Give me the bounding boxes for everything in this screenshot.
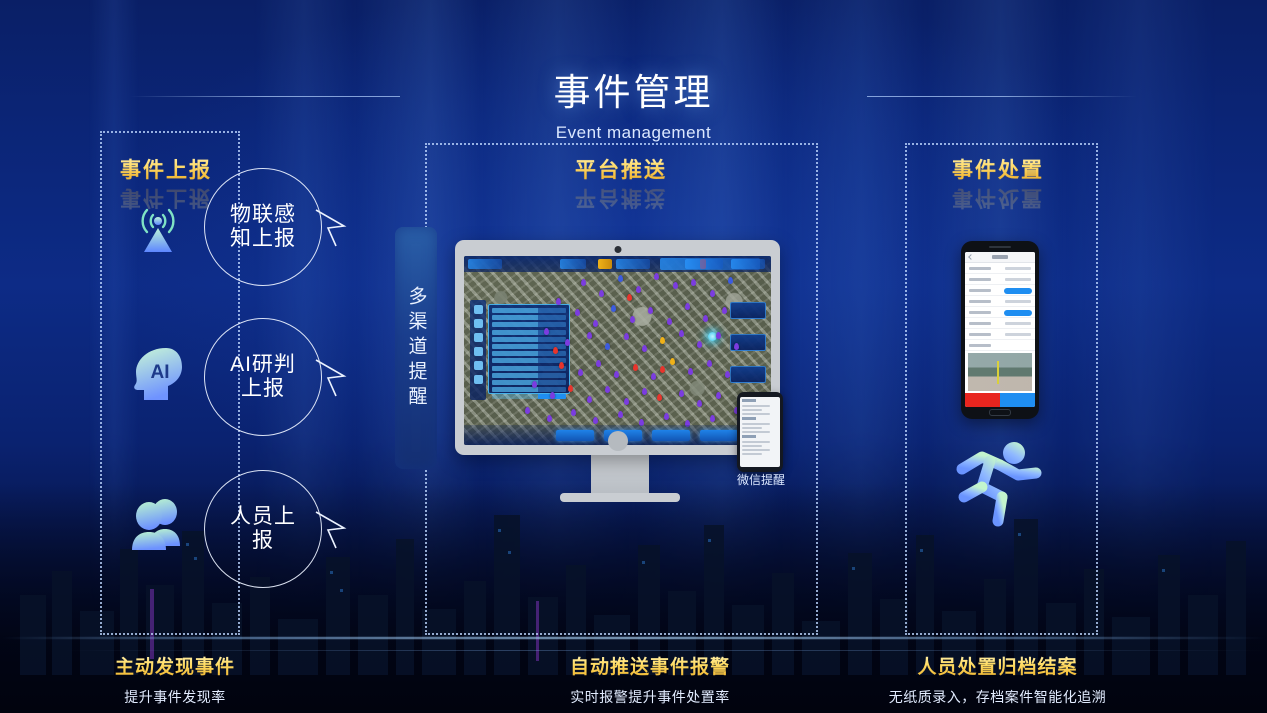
- bubble-label-people: 人员上报: [226, 505, 300, 554]
- map-side-button-3[interactable]: [730, 366, 766, 383]
- detail-row: [965, 329, 1035, 340]
- footer-subtext: 无纸质录入，存档案件智能化追溯: [845, 687, 1150, 707]
- bubble-tail-ai: [314, 354, 364, 400]
- phone-nav-bar: [965, 252, 1035, 263]
- ai-head-icon: AI: [122, 338, 194, 410]
- map-left-icon-rail[interactable]: [470, 300, 486, 400]
- bubble-tail-people: [314, 506, 364, 552]
- antenna-signal-icon: [122, 188, 194, 260]
- monitor-stand-foot: [560, 493, 680, 502]
- wechat-phone-mockup[interactable]: [737, 392, 783, 472]
- detail-row: [965, 285, 1035, 296]
- footer-block-archive: 人员处置归档结案 无纸质录入，存档案件智能化追溯: [845, 652, 1150, 707]
- bubble-people[interactable]: 人员上报: [204, 470, 322, 588]
- footer-block-discover: 主动发现事件 提升事件发现率: [60, 652, 290, 707]
- bubble-label-ai: AI研判上报: [226, 353, 300, 402]
- footer-heading: 人员处置归档结案: [845, 652, 1150, 679]
- footer-heading: 自动推送事件报警: [505, 652, 795, 679]
- back-chevron-icon[interactable]: [968, 254, 974, 260]
- desktop-monitor-mockup: [455, 240, 785, 502]
- footer-heading: 主动发现事件: [60, 652, 290, 679]
- page-title: 事件管理: [0, 62, 1267, 116]
- event-photo-thumbnail: [968, 353, 1032, 391]
- footer-subtext: 提升事件发现率: [60, 687, 290, 707]
- multi-channel-alert-label: 多渠道提醒: [403, 286, 430, 411]
- monitor-home-indicator: [608, 431, 628, 451]
- detail-row: [965, 274, 1035, 285]
- horizon-glow-line: [0, 637, 1267, 639]
- svg-text:AI: AI: [151, 362, 170, 383]
- monitor-bezel: [455, 240, 780, 455]
- footer-subtext: 实时报警提升事件处置率: [505, 687, 795, 707]
- bubble-ai[interactable]: AI研判上报: [204, 318, 322, 436]
- horizon-glow-line-secondary: [0, 650, 1267, 651]
- people-group-icon: [122, 490, 194, 562]
- source-row-iot: 物联感知上报: [108, 160, 368, 310]
- webcam-dot-icon: [614, 246, 621, 253]
- phone-action-buttons[interactable]: [965, 393, 1035, 407]
- detail-row: [965, 263, 1035, 274]
- disposal-phone-mockup[interactable]: [961, 241, 1039, 419]
- confirm-button[interactable]: [1000, 393, 1035, 407]
- phone-earpiece-icon: [989, 246, 1011, 248]
- phone-home-button-icon[interactable]: [989, 409, 1011, 416]
- monitor-screen[interactable]: [464, 256, 771, 445]
- column-title-push: 平台推送: [575, 154, 667, 184]
- bubble-tail-iot: [314, 204, 364, 250]
- phone-nav-title: [992, 255, 1008, 259]
- map-side-button-1[interactable]: [730, 302, 766, 319]
- multi-channel-alert-tab[interactable]: 多渠道提醒: [395, 227, 437, 469]
- column-title-disposal: 事件处置: [952, 154, 1044, 184]
- monitor-stand-neck: [591, 455, 649, 493]
- wechat-caption: 微信提醒: [737, 472, 785, 488]
- reject-button[interactable]: [965, 393, 1000, 407]
- disposal-phone-screen: [965, 252, 1035, 407]
- bubble-label-iot: 物联感知上报: [226, 203, 300, 252]
- bubble-iot[interactable]: 物联感知上报: [204, 168, 322, 286]
- slide-canvas: 事件管理 Event management 事件上报 平台推送 事件处置 物联感…: [0, 0, 1267, 713]
- wechat-phone-screen: [740, 397, 780, 467]
- map-top-toolbar: [464, 256, 771, 272]
- source-row-people: 人员上报: [108, 462, 368, 612]
- source-row-ai: AI AI研判上报: [108, 310, 368, 460]
- detail-row: [965, 318, 1035, 329]
- detail-row: [965, 340, 1035, 351]
- footer-block-push: 自动推送事件报警 实时报警提升事件处置率: [505, 652, 795, 707]
- detail-row: [965, 296, 1035, 307]
- detail-row: [965, 307, 1035, 318]
- running-person-icon: [940, 435, 1050, 535]
